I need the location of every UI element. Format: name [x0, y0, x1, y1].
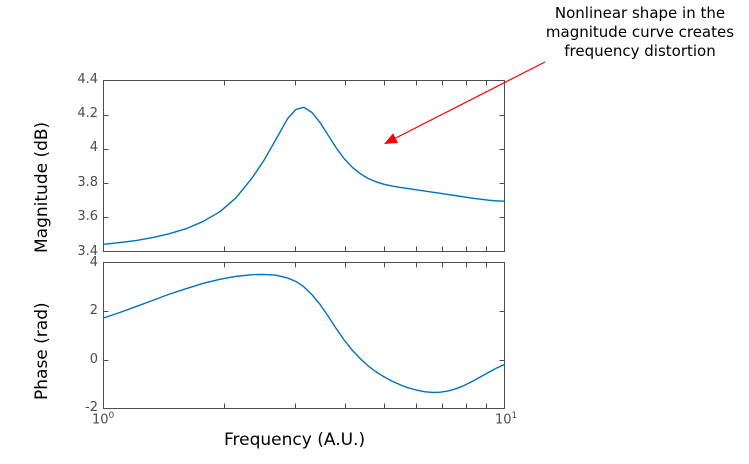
- annotation-arrow-line: [396, 62, 545, 138]
- phase-axes-box: [104, 263, 505, 409]
- annotation-arrow-head: [384, 133, 398, 144]
- magnitude-axes-box: [104, 81, 505, 252]
- plot-svg: [0, 0, 749, 464]
- figure-container: Magnitude (dB) Phase (rad) Frequency (A.…: [0, 0, 749, 464]
- magnitude-tick-marks: [104, 81, 505, 252]
- phase-curve: [104, 274, 505, 392]
- magnitude-curve: [104, 107, 505, 244]
- annotation-arrow: [384, 62, 545, 144]
- phase-tick-marks: [104, 263, 505, 409]
